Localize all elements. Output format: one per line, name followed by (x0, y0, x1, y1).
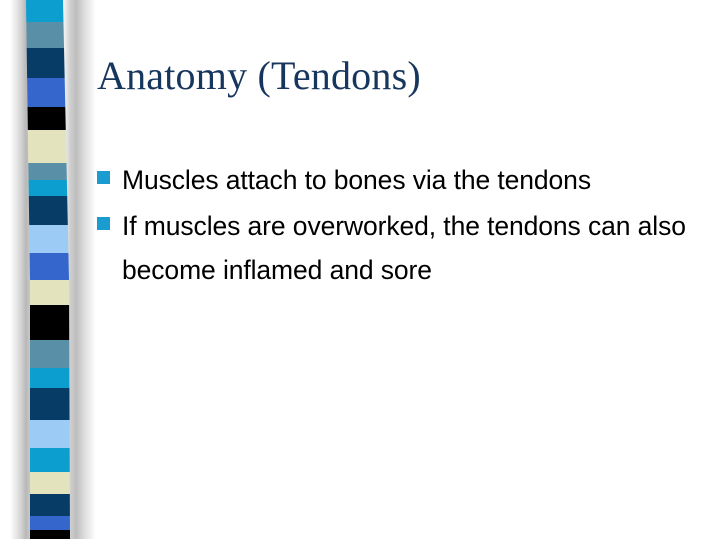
slide-canvas: Anatomy (Tendons) Muscles attach to bone… (0, 0, 719, 539)
page-title: Anatomy (Tendons) (97, 52, 687, 100)
list-item: If muscles are overworked, the tendons c… (97, 204, 707, 292)
bullet-text: Muscles attach to bones via the tendons (122, 158, 707, 202)
list-item: Muscles attach to bones via the tendons (97, 158, 707, 202)
left-color-stripe (0, 0, 100, 539)
square-bullet-icon (97, 217, 110, 230)
bullet-list: Muscles attach to bones via the tendons … (97, 158, 707, 294)
square-bullet-icon (97, 171, 110, 184)
bullet-text: If muscles are overworked, the tendons c… (122, 204, 707, 292)
